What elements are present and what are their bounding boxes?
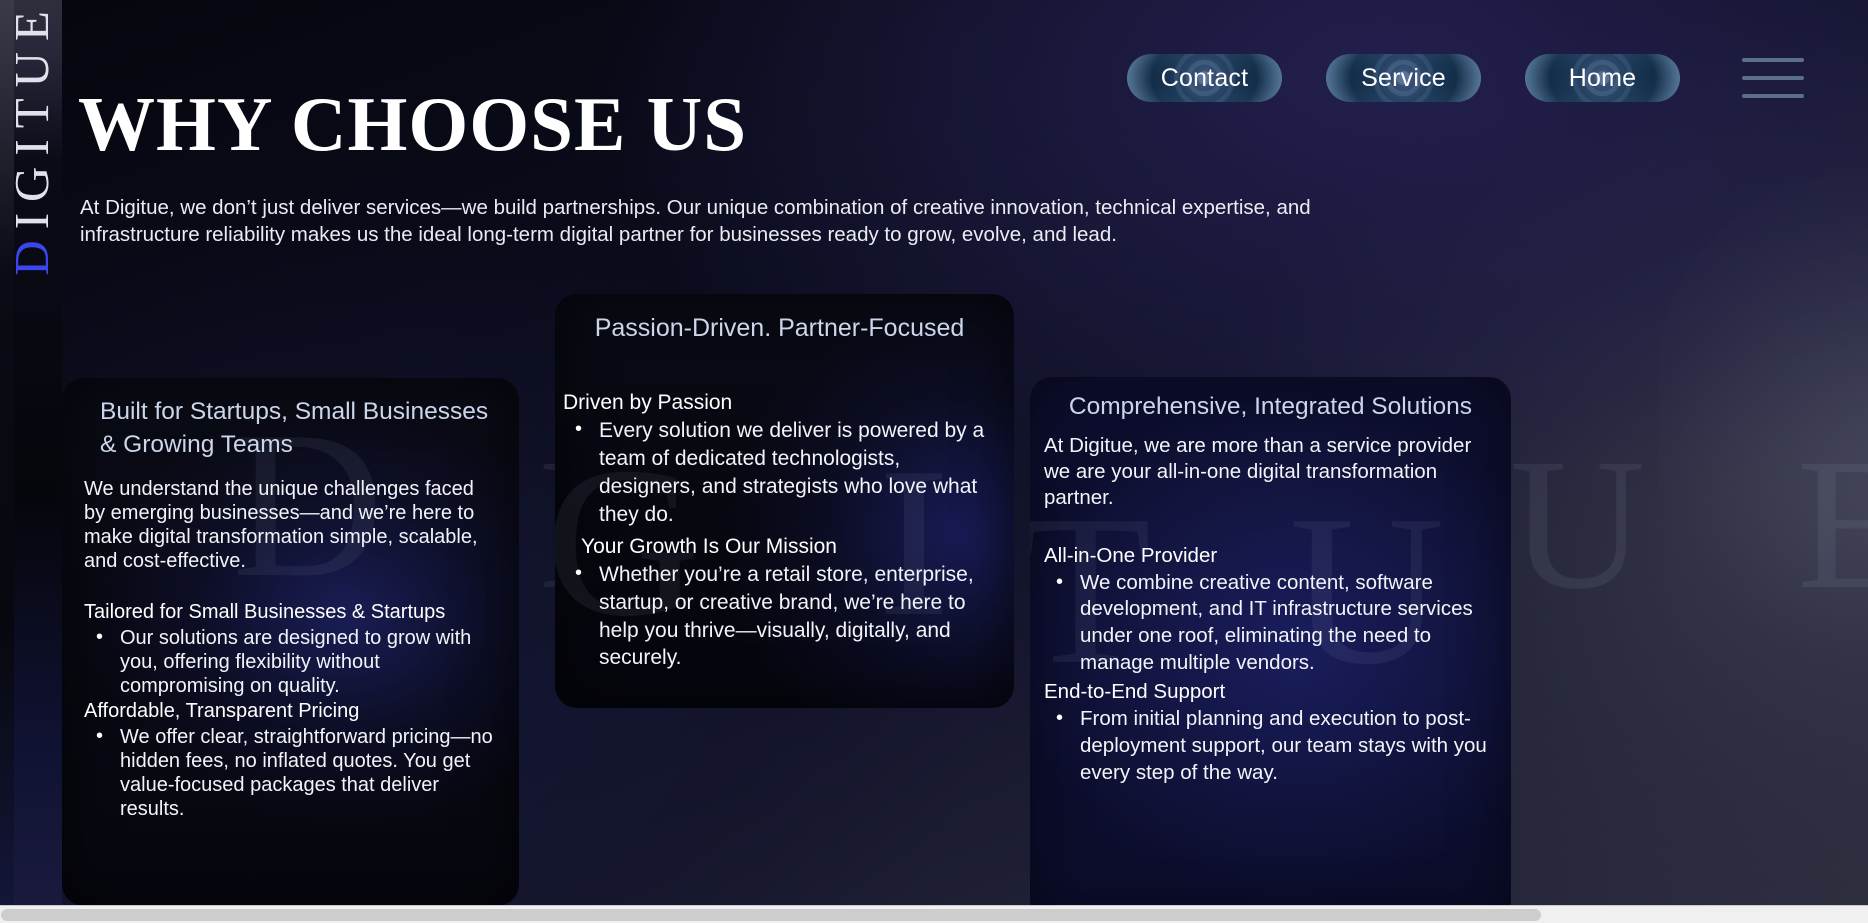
card-right-section-1-list: We combine creative content, software de… [1044,570,1497,677]
card-middle-section-2-list: Whether you’re a retail store, enterpris… [563,561,996,673]
horizontal-scrollbar-thumb[interactable] [1,909,1541,921]
list-item: Every solution we deliver is powered by … [563,417,996,529]
card-left-title: Built for Startups, Small Businesses & G… [84,396,497,461]
page-intro-text: At Digitue, we don’t just deliver servic… [80,194,1370,249]
card-middle-section-1-heading: Driven by Passion [563,391,996,415]
card-right-section-2-heading: End-to-End Support [1044,680,1497,704]
card-left-section-2-heading: Affordable, Transparent Pricing [84,700,497,723]
hamburger-menu-icon[interactable] [1742,58,1804,98]
nav-item-contact-label: Contact [1161,64,1249,93]
card-right-content: Comprehensive, Integrated Solutions At D… [1030,377,1511,786]
brand-vertical-text: DIGITUE [7,0,56,284]
hamburger-line-3 [1742,94,1804,98]
list-item: From initial planning and execution to p… [1044,706,1497,786]
nav-item-home-label: Home [1569,64,1637,93]
card-right-body: At Digitue, we are more than a service p… [1044,433,1497,512]
card-left-section-1-heading: Tailored for Small Businesses & Startups [84,601,497,624]
nav-item-service[interactable]: Service [1326,54,1481,102]
list-item: Whether you’re a retail store, enterpris… [563,561,996,673]
card-right-title: Comprehensive, Integrated Solutions [1044,393,1497,421]
horizontal-scrollbar[interactable] [0,905,1868,923]
card-built-for-startups: D I Built for Startups, Small Businesses… [62,378,519,906]
card-left-content: Built for Startups, Small Businesses & G… [62,378,519,821]
page-title: WHY CHOOSE US [78,84,747,165]
brand-rail: DIGITUE [0,0,62,905]
card-left-body: We understand the unique challenges face… [84,477,497,573]
card-right-section-1-heading: All-in-One Provider [1044,544,1497,568]
card-middle-content: Passion-Driven. Partner-Focused Driven b… [555,294,1014,672]
card-comprehensive-solutions: T U E Comprehensive, Integrated Solution… [1030,377,1511,923]
nav-item-service-label: Service [1361,64,1446,93]
right-glow-decoration [1658,175,1868,745]
hamburger-line-1 [1742,58,1804,62]
hamburger-line-2 [1742,76,1804,80]
nav-item-home[interactable]: Home [1525,54,1680,102]
brand-rest-letters: IGITUE [4,0,59,229]
main-navigation: Home Service Contact [1127,54,1804,102]
card-left-section-1-list: Our solutions are designed to grow with … [84,626,497,698]
card-left-section-2-list: We offer clear, straightforward pricing—… [84,725,497,821]
list-item: We combine creative content, software de… [1044,570,1497,677]
list-item: Our solutions are designed to grow with … [84,626,497,698]
list-item: We offer clear, straightforward pricing—… [84,725,497,821]
card-passion-driven: G I Passion-Driven. Partner-Focused Driv… [555,294,1014,708]
card-middle-section-1-list: Every solution we deliver is powered by … [563,417,996,529]
brand-first-letter: D [4,229,59,275]
card-middle-section-2-heading: Your Growth Is Our Mission [563,535,996,559]
card-right-section-2-list: From initial planning and execution to p… [1044,706,1497,786]
page-root: DIGITUE Home Service Contact WHY CHOOSE … [0,0,1868,923]
nav-item-contact[interactable]: Contact [1127,54,1282,102]
card-middle-title: Passion-Driven. Partner-Focused [563,314,996,343]
